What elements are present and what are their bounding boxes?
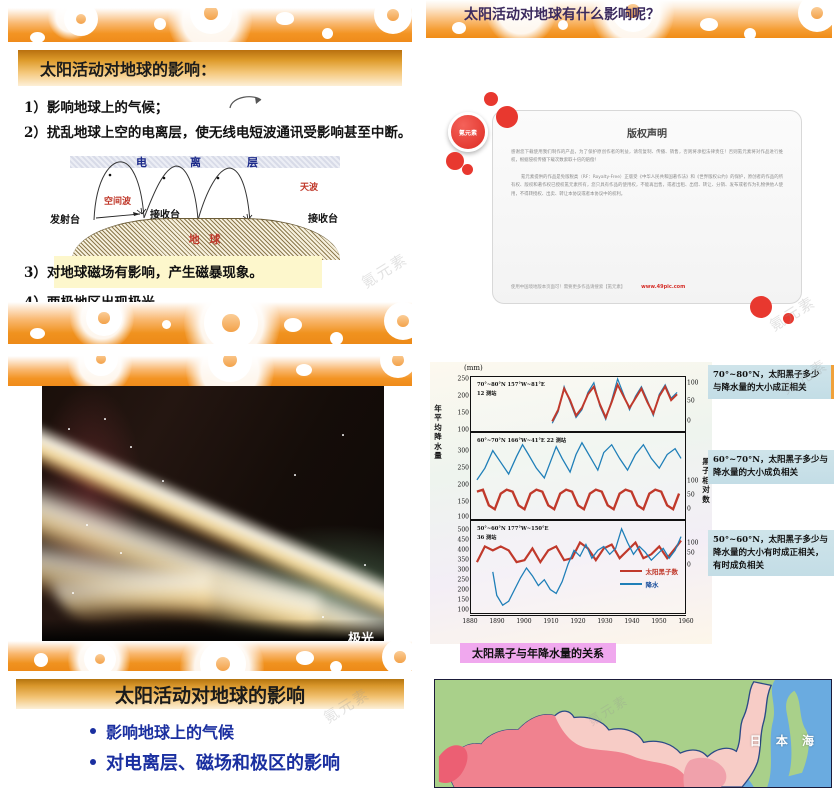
map-label-sea-of-japan: 日 本 海 [750, 732, 819, 749]
china-map: 日 本 海 氪元素 [434, 679, 832, 788]
transmitter-label: 发射台 [50, 211, 80, 226]
decor-red-dot-1 [484, 92, 498, 106]
krypton-badge: 氪元素 [448, 112, 488, 152]
slide-2-header-title: 太阳活动对地球有什么影响呢？ [426, 0, 832, 30]
slide-2-copyright[interactable]: 太阳活动对地球有什么影响呢？ 版权声明 感谢您下载使用我们制作的产品，为了保护原… [420, 0, 840, 352]
slide-5-title: 太阳活动对地球的影响 [115, 681, 305, 708]
legend-item-precip: 降水 [620, 579, 679, 589]
slide-5-bullet-2-label: 对电离层、磁场和极区的影响 [106, 749, 340, 775]
decor-red-dot-2 [496, 106, 518, 128]
slide-3-aurora[interactable]: 极光 [0, 352, 420, 675]
bubble-band-top [8, 8, 412, 42]
bubble-band-top [8, 356, 412, 386]
copyright-footer: 使用中国境地版本页面可！需要更多作品请搜索【氪元素】 www.49pic.com [511, 284, 783, 290]
decor-red-dot-6 [783, 313, 794, 324]
slide-1-canvas: 太阳活动对地球的影响： 1）影响地球上的气候； 2）扰乱地球上空的电离层，使无线… [8, 8, 412, 344]
chart-unit-label: (mm) [464, 364, 483, 372]
krypton-badge-label: 氪元素 [459, 128, 477, 137]
slide-4-sunspot-chart[interactable]: (mm) 年平均降水量 黑子相对数 70°~80°N 157°W~81°E 12… [420, 352, 840, 675]
slide-5-canvas: 太阳活动对地球的影响 影响地球上的气候 对电离层、磁场和极区的影响 氪元素 [8, 675, 412, 788]
chart-panel-2-series [471, 433, 685, 519]
legend-item-sunspot: 太阳黑子数 [620, 566, 679, 576]
sunspot-precipitation-chart: (mm) 年平均降水量 黑子相对数 70°~80°N 157°W~81°E 12… [430, 362, 712, 644]
chart-note-70-80N: 70°~80°N，太阳黑子多少与降水量的大小成正相关 [708, 365, 834, 399]
chart-note-50-60N: 50°~60°N，太阳黑子多少与降水量的大小有时成正相关，有时成负相关 [708, 530, 834, 576]
slide-1-title: 太阳活动对地球的影响： [18, 56, 216, 80]
slide-1-line-3: 3）对地球磁场有影响，产生磁暴现象。 [24, 261, 263, 281]
receiver-label-2: 接收台 [308, 210, 338, 225]
slide-6-canvas: 日 本 海 氪元素 [426, 675, 836, 788]
slide-1-solar-activity-effects[interactable]: 太阳活动对地球的影响： 1）影响地球上的气候； 2）扰乱地球上空的电离层，使无线… [0, 0, 420, 352]
chart-xticks: 1880 1890 1900 1910 1920 1930 1940 1950 … [470, 616, 686, 626]
decor-red-dot-4 [462, 164, 473, 175]
copyright-paragraph-2: 氪元素提供的作品是免版税类（RF：Royalty-Free）正版受《中华人民共和… [511, 174, 783, 198]
chart-panel-1-series [471, 377, 685, 431]
bullet-icon [90, 759, 96, 765]
sky-wave-label: 天波 [300, 180, 318, 193]
slide-2-header-bar: 太阳活动对地球有什么影响呢？ [426, 0, 832, 38]
bubble-band-bottom [8, 641, 412, 671]
chart-note-60-70N: 60°~70°N，太阳黑子多少与降水量的大小成负相关 [708, 450, 834, 484]
slide-2-body: 版权声明 感谢您下载使用我们制作的产品，为了保护原创作者的利益，请勿复制、传播、… [434, 44, 824, 336]
slide-5-bullet-1-label: 影响地球上的气候 [106, 719, 234, 743]
slide-5-bullet-2: 对电离层、磁场和极区的影响 [90, 749, 340, 775]
curved-arrow-icon [228, 92, 268, 112]
space-wave-label: 空间波 [104, 194, 131, 207]
chart-panel-1: 70°~80°N 157°W~81°E 12 测站 250 200 150 10… [470, 376, 686, 432]
copyright-footer-note: 使用中国境地版本页面可！需要更多作品请搜索【氪元素】 [511, 284, 625, 290]
copyright-paragraph-1: 感谢您下载使用我们制作的产品，为了保护原创作者的利益，请勿复制、传播、销售，否则… [511, 149, 783, 165]
slide-1-line-2: 2）扰乱地球上空的电离层，使无线电短波通讯受影响甚至中断。 [24, 121, 411, 141]
slide-2-canvas: 太阳活动对地球有什么影响呢？ 版权声明 感谢您下载使用我们制作的产品，为了保护原… [426, 0, 832, 344]
chart-ylabel: 年平均降水量 [433, 404, 443, 460]
chart-panel-2: 60°~70°N 166°W~41°E 22 测站 300 250 200 15… [470, 432, 686, 520]
aurora-photograph: 极光 [42, 386, 384, 653]
legend-swatch-sunspot [620, 570, 642, 573]
slide-4-canvas: (mm) 年平均降水量 黑子相对数 70°~80°N 157°W~81°E 12… [424, 356, 840, 671]
slide-thumbnail-grid: 太阳活动对地球的影响： 1）影响地球上的气候； 2）扰乱地球上空的电离层，使无线… [0, 0, 840, 788]
chart-caption: 太阳黑子与年降水量的关系 [460, 643, 616, 663]
copyright-box: 版权声明 感谢您下载使用我们制作的产品，为了保护原创作者的利益，请勿复制、传播、… [492, 110, 802, 304]
watermark: 氪元素 [357, 248, 411, 293]
slide-5-summary[interactable]: 太阳活动对地球的影响 影响地球上的气候 对电离层、磁场和极区的影响 氪元素 [0, 675, 420, 788]
slide-5-title-bar: 太阳活动对地球的影响 [16, 679, 404, 709]
copyright-footer-link[interactable]: www.49pic.com [641, 284, 685, 290]
bubble-band-bottom [8, 302, 412, 344]
legend-label-precip: 降水 [646, 579, 659, 589]
chart-area: (mm) 年平均降水量 黑子相对数 70°~80°N 157°W~81°E 12… [430, 362, 834, 665]
decor-red-dot-5 [750, 296, 772, 318]
legend-label-sunspot: 太阳黑子数 [646, 566, 679, 576]
slide-6-china-map[interactable]: 日 本 海 氪元素 [420, 675, 840, 788]
ionosphere-diagram: 电 离 层 空间波 天波 发射台 接收台 接收台 [50, 148, 360, 260]
earth-label: 地 球 [189, 231, 224, 247]
slide-1-title-bar: 太阳活动对地球的影响： [18, 50, 402, 86]
slide-3-canvas: 极光 [8, 356, 412, 671]
legend-swatch-precip [620, 583, 642, 586]
slide-5-bullet-1: 影响地球上的气候 [90, 719, 234, 743]
slide-1-line-1: 1）影响地球上的气候； [24, 96, 168, 116]
bullet-icon [90, 728, 96, 734]
chart-legend: 太阳黑子数 降水 [620, 566, 679, 592]
copyright-title: 版权声明 [493, 125, 801, 140]
